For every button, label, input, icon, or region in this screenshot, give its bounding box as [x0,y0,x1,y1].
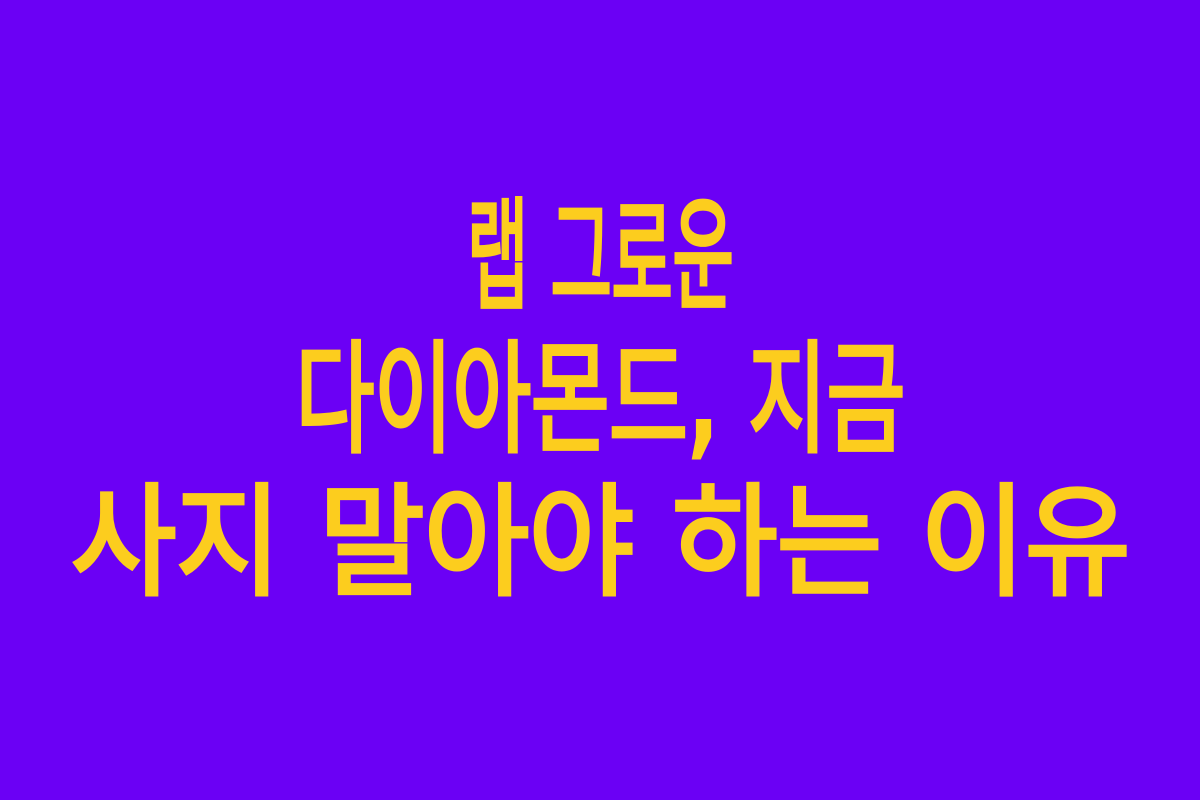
headline-block: 랩 그로운 다이아몬드, 지금 사지 말아야 하는 이유 [0,186,1200,615]
headline-line-3: 사지 말아야 하는 이유 [48,472,1152,615]
banner-canvas: 랩 그로운 다이아몬드, 지금 사지 말아야 하는 이유 [0,0,1200,800]
headline-line-1: 랩 그로운 [279,186,921,329]
headline-line-2: 다이아몬드, 지금 [187,329,1013,472]
